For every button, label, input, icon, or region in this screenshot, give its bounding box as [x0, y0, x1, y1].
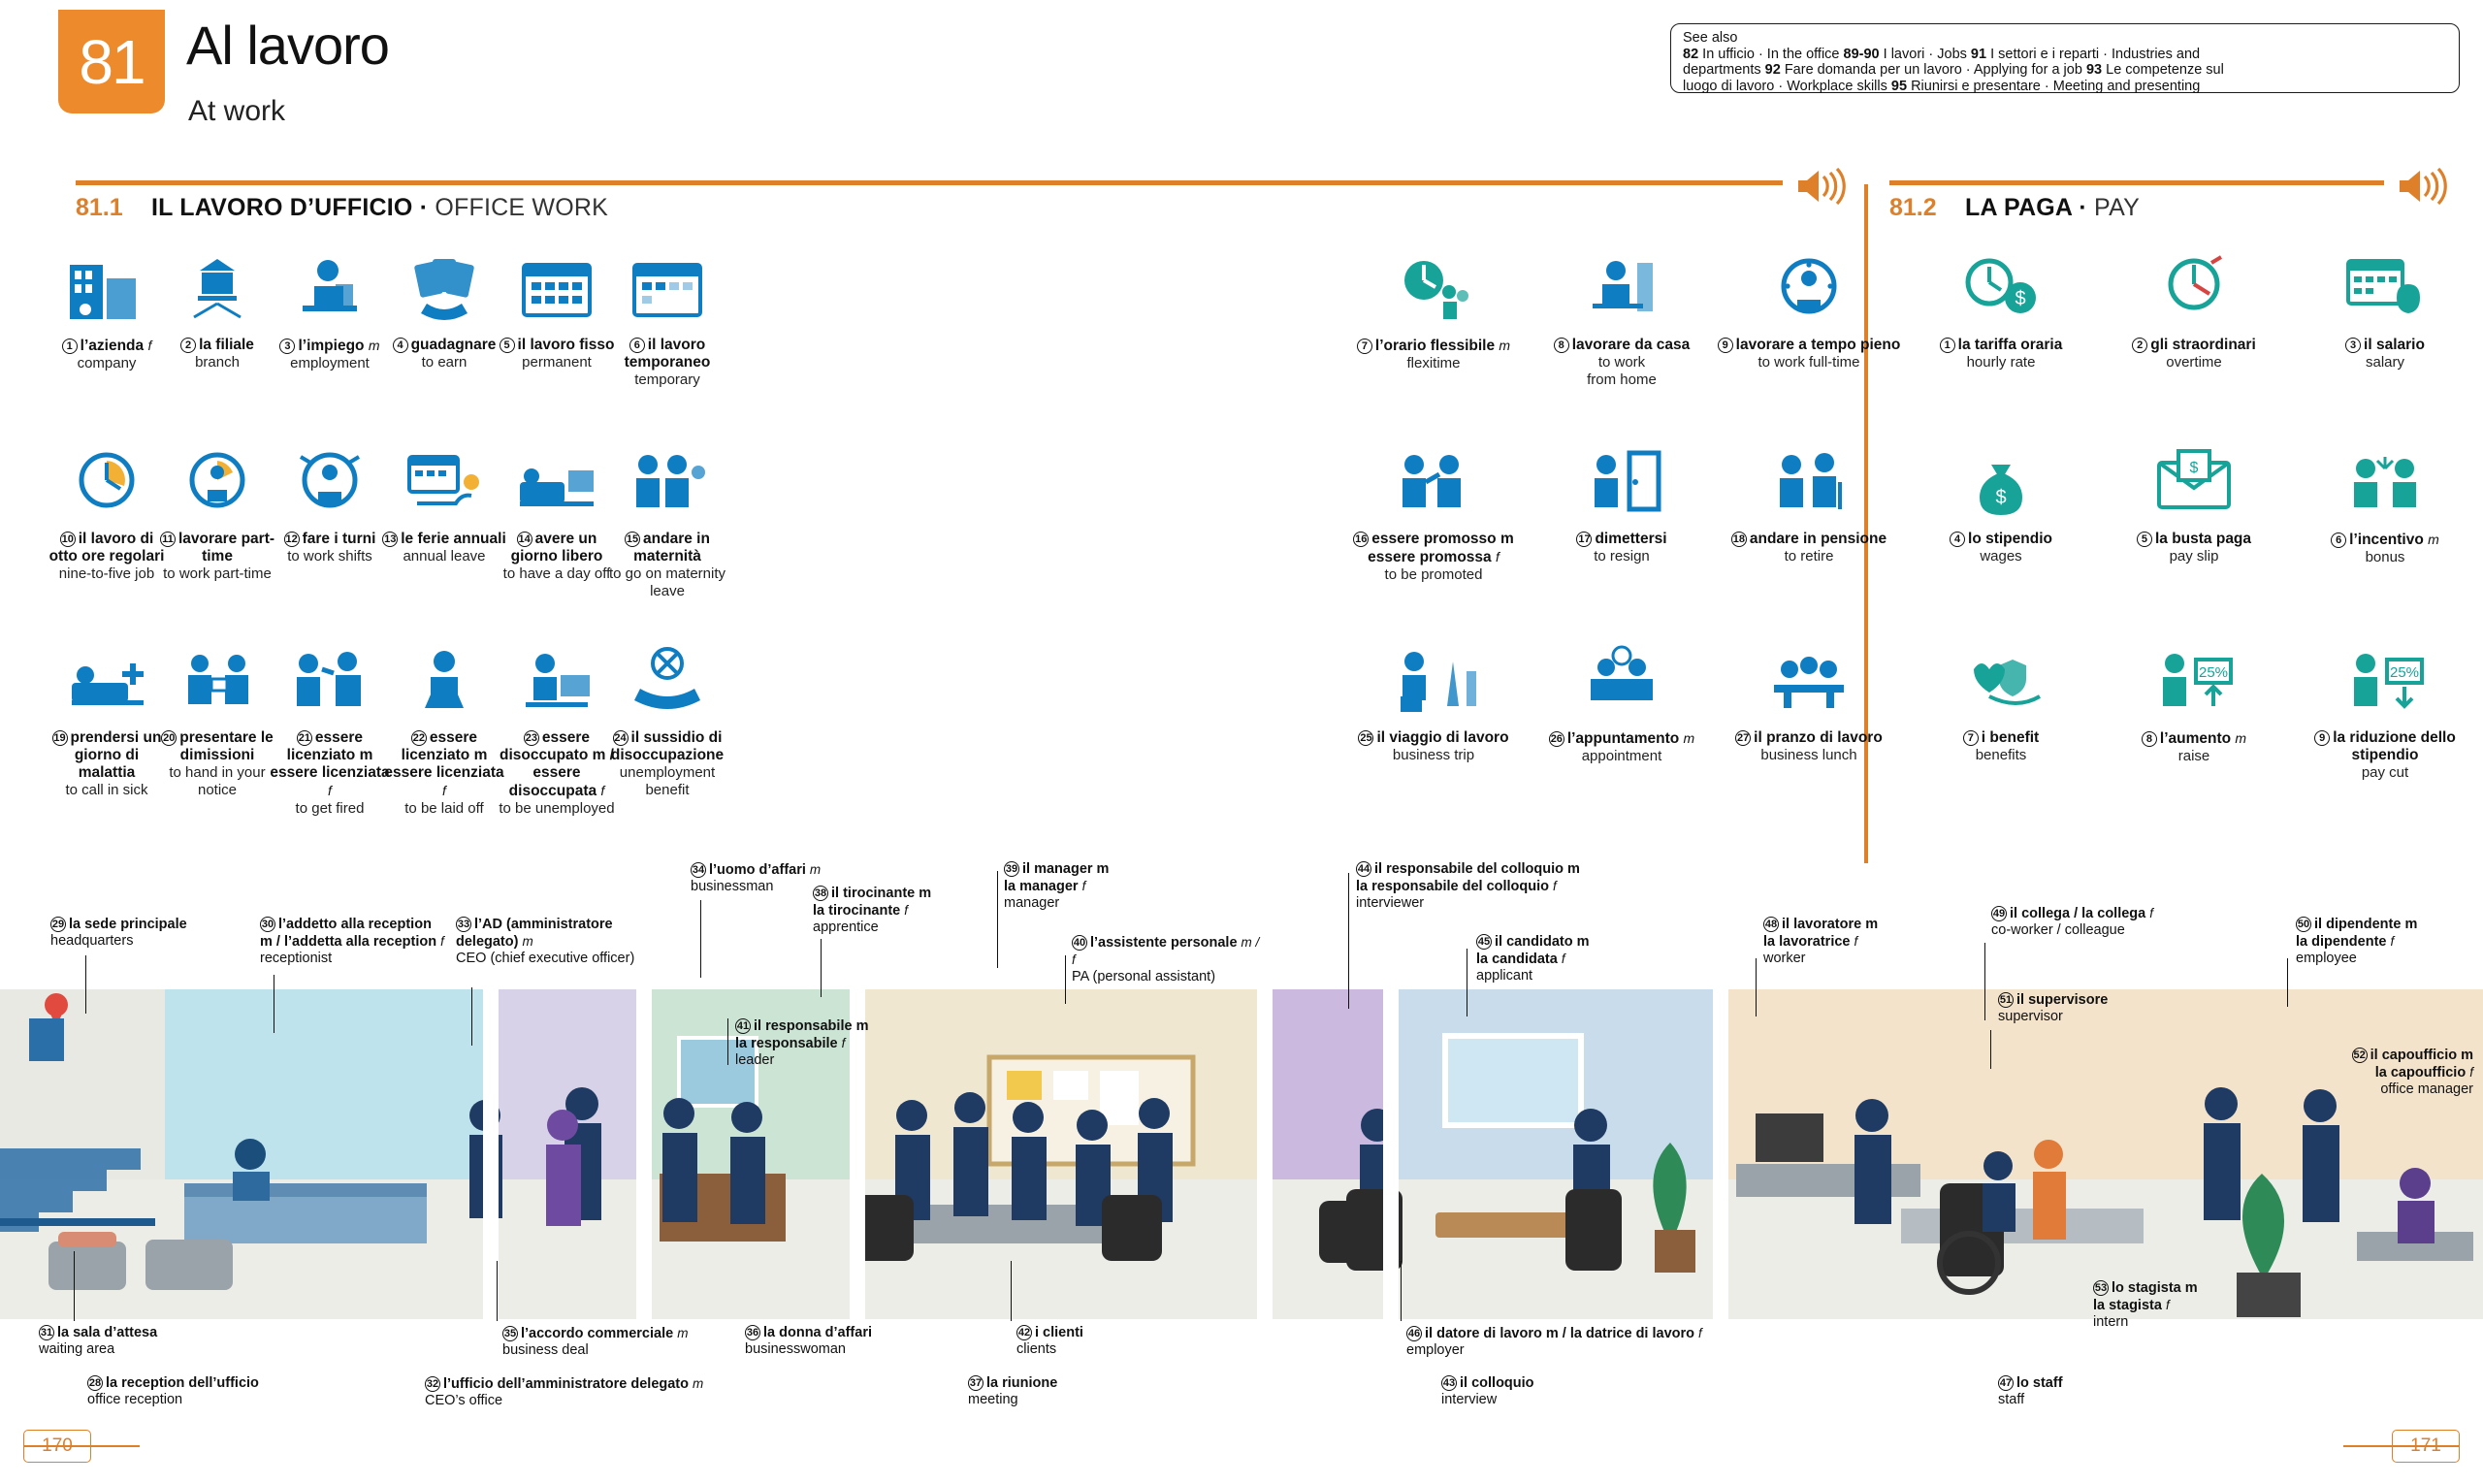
vocab-item-5[interactable]: $5la busta pagapay slip	[2102, 441, 2286, 565]
vocab-icon-wrap	[382, 247, 506, 331]
vocab-translation: temporary	[605, 371, 729, 389]
vocab-term: 10il lavoro di otto ore regolari	[45, 531, 169, 565]
see-also-text-3: I settori e i reparti · Industries and	[1990, 47, 2200, 62]
section-title-en: OFFICE WORK	[435, 194, 608, 221]
scene-callout-30[interactable]: 30l’addetto alla reception m / l’addetta…	[260, 917, 444, 967]
vocab-icon-wrap: $	[1909, 247, 2093, 331]
scene-artwork	[0, 989, 2483, 1319]
scene-separator-6	[1713, 989, 1728, 1319]
scene-callout-48[interactable]: 48il lavoratore mla lavoratrice fworker	[1763, 917, 1919, 967]
vocab-term: 5la busta paga	[2102, 531, 2286, 548]
callout-number: 36	[745, 1325, 760, 1340]
calendar-permanent-icon	[512, 249, 601, 331]
scene-callout-42[interactable]: 42i clienticlients	[1016, 1325, 1172, 1358]
vocab-item-5[interactable]: 5il lavoro fissopermanent	[495, 247, 619, 371]
callout-term: 42i clienti	[1016, 1325, 1083, 1340]
vocab-icon-wrap	[382, 640, 506, 724]
callout-number: 44	[1356, 861, 1371, 877]
vocab-translation: flexitime	[1341, 355, 1526, 372]
callout-leader-line	[85, 955, 86, 1014]
vocab-icon-wrap	[45, 441, 169, 525]
see-also-line-1: 82 In ufficio · In the office 89-90 I la…	[1683, 47, 2447, 63]
vocab-item-1[interactable]: $1la tariffa orariahourly rate	[1909, 247, 2093, 371]
vocab-item-16[interactable]: 16essere promosso messere promossa fto b…	[1341, 441, 1526, 584]
vocab-item-8[interactable]: 8lavorare da casato workfrom home	[1530, 247, 1714, 389]
scene-callout-46[interactable]: 46il datore di lavoro m / la datrice di …	[1406, 1325, 1794, 1359]
vocab-term: 18andare in pensione	[1717, 531, 1901, 548]
callout-term: 53lo stagista mla stagista f	[2093, 1280, 2198, 1313]
vocab-item-20[interactable]: 20presentare le dimissionito hand in you…	[155, 640, 279, 799]
callout-term: 30l’addetto alla reception m / l’addetta…	[260, 917, 444, 950]
vocab-translation: to workfrom home	[1530, 354, 1714, 389]
callout-gender: m	[677, 1326, 688, 1340]
svg-text:$: $	[1995, 487, 2006, 508]
vocab-term: 14avere un giorno libero	[495, 531, 619, 565]
vocab-item-17[interactable]: 17dimettersito resign	[1530, 441, 1714, 565]
vocab-item-12[interactable]: 12fare i turnito work shifts	[268, 441, 392, 565]
callout-gender: f	[1854, 934, 1858, 949]
callout-leader-line	[1065, 955, 1066, 1004]
callout-translation: interview	[1441, 1392, 1616, 1408]
vocab-translation: salary	[2293, 354, 2477, 371]
vocab-icon-wrap	[268, 441, 392, 525]
vocab-translation: to work full-time	[1717, 354, 1901, 371]
callout-translation: employer	[1406, 1342, 1794, 1359]
callout-term: 40l’assistente personale m / f	[1072, 935, 1259, 968]
bank-branch-icon	[173, 249, 262, 331]
chapter-number: 81	[79, 26, 144, 98]
scene-separator-4	[1257, 989, 1273, 1319]
salary-calendar-icon	[2340, 249, 2430, 331]
gender-marker: m	[1499, 338, 1510, 353]
see-also-ref-91: 91	[1971, 47, 1986, 62]
scene-callout-41[interactable]: 41il responsabile mla responsabile flead…	[735, 1018, 910, 1069]
scene-callout-37[interactable]: 37la riunionemeeting	[968, 1375, 1143, 1408]
callout-gender: f	[1553, 879, 1557, 893]
vocab-translation: business lunch	[1717, 747, 1901, 764]
vocab-item-21[interactable]: 21essere licenziato messere licenziata f…	[268, 640, 392, 818]
overtime-clock-icon	[2149, 249, 2239, 331]
vocab-icon-wrap	[2293, 441, 2477, 525]
callout-leader-line	[1467, 949, 1467, 1016]
see-also-line-3: luogo di lavoro · Workplace skills 95 Ri…	[1683, 79, 2447, 95]
callout-translation: office reception	[87, 1392, 320, 1408]
resign-door-icon	[1577, 443, 1666, 525]
vocab-item-22[interactable]: 22essere licenziato messere licenziata f…	[382, 640, 506, 818]
item-number: 4	[1950, 532, 1965, 547]
wages-moneybag-icon: $	[1956, 443, 2046, 525]
callout-number: 34	[691, 862, 706, 878]
vocab-icon-wrap	[605, 441, 729, 525]
vocab-translation: to be unemployed	[495, 800, 619, 818]
item-number: 20	[161, 730, 177, 746]
vocab-icon-wrap	[1341, 640, 1526, 724]
callout-translation: PA (personal assistant)	[1072, 969, 1266, 985]
see-also-box: See also 82 In ufficio · In the office 8…	[1670, 23, 2460, 93]
illustrated-office-scene	[0, 989, 2483, 1319]
business-lunch-icon	[1764, 642, 1854, 724]
see-also-text-1: In ufficio · In the office	[1702, 47, 1839, 62]
vocab-icon-wrap	[155, 247, 279, 331]
item-number: 13	[382, 532, 398, 547]
scene-callout-47[interactable]: 47lo staffstaff	[1998, 1375, 2153, 1408]
item-number: 11	[160, 532, 176, 547]
see-also-ref-93: 93	[2086, 62, 2102, 78]
vocab-item-4[interactable]: $4lo stipendiowages	[1909, 441, 2093, 565]
vocab-translation: annual leave	[382, 548, 506, 565]
scene-callout-35[interactable]: 35l’accordo commerciale mbusiness deal	[502, 1325, 745, 1359]
section-rule-2	[1889, 180, 2384, 185]
callout-translation: receptionist	[260, 951, 444, 967]
callout-term: 43il colloquio	[1441, 1375, 1534, 1391]
vocab-translation: bonus	[2293, 549, 2477, 566]
svg-text:25%: 25%	[2199, 664, 2228, 681]
vocab-icon-wrap	[1530, 640, 1714, 724]
vocab-term: 6il lavoro temporaneo	[605, 337, 729, 371]
callout-leader-line	[471, 987, 472, 1046]
item-number: 1	[1940, 338, 1955, 353]
scene-callout-49[interactable]: 49il collega / la collega fco-worker / c…	[1991, 905, 2234, 939]
vocab-translation: pay cut	[2293, 764, 2477, 782]
vocab-icon-wrap: 25%	[2293, 640, 2477, 724]
vocab-icon-wrap	[495, 441, 619, 525]
callout-translation: CEO’s office	[425, 1393, 774, 1409]
item-number: 5	[500, 338, 515, 353]
vocab-icon-wrap	[45, 640, 169, 724]
scene-callout-33[interactable]: 33l’AD (amministratore delegato) mCEO (c…	[456, 917, 640, 967]
scene-callout-52[interactable]: 52il capoufficio mla capoufficio foffice…	[2328, 1048, 2473, 1098]
vocab-item-9[interactable]: 9lavorare a tempo pienoto work full-time	[1717, 247, 1901, 371]
callout-number: 33	[456, 917, 471, 932]
callout-number: 30	[260, 917, 275, 932]
callout-leader-line	[1011, 1261, 1012, 1321]
callout-term: 33l’AD (amministratore delegato) m	[456, 917, 613, 950]
callout-number: 51	[1998, 992, 2014, 1008]
vocab-item-15[interactable]: 15andare in maternitàto go on maternity …	[605, 441, 729, 600]
callout-translation: clients	[1016, 1341, 1172, 1358]
vocab-term: 13le ferie annuali	[382, 531, 506, 548]
vocab-translation: to go on maternity leave	[605, 565, 729, 600]
callout-term: 52il capoufficio mla capoufficio f	[2352, 1048, 2473, 1081]
vocab-icon-wrap	[2293, 247, 2477, 331]
vocab-term: 9la riduzione dello stipendio	[2293, 729, 2477, 764]
callout-term: 34l’uomo d’affari m	[691, 862, 821, 878]
callout-number: 32	[425, 1376, 440, 1392]
callout-term: 41il responsabile mla responsabile f	[735, 1018, 868, 1051]
vocab-item-9[interactable]: 25%9la riduzione dello stipendiopay cut	[2293, 640, 2477, 782]
vocab-translation: to work shifts	[268, 548, 392, 565]
callout-translation: leader	[735, 1052, 910, 1069]
vocab-item-19[interactable]: 19prendersi un giorno di malattiato call…	[45, 640, 169, 799]
item-number: 17	[1576, 532, 1592, 547]
scene-callout-38[interactable]: 38il tirocinante mla tirocinante fappren…	[813, 886, 987, 936]
callout-term: 32l’ufficio dell’amministratore delegato…	[425, 1376, 703, 1392]
callout-number: 45	[1476, 934, 1492, 950]
callout-number: 46	[1406, 1326, 1422, 1341]
vocab-translation: to get fired	[268, 800, 392, 818]
vocab-icon-wrap	[268, 247, 392, 331]
callout-leader-line	[700, 900, 701, 978]
callout-term: 29la sede principale	[50, 917, 187, 932]
scene-callout-39[interactable]: 39il manager mla manager fmanager	[1004, 861, 1169, 912]
see-also-text-2: I lavori · Jobs	[1884, 47, 1967, 62]
vocab-icon-wrap	[495, 247, 619, 331]
callout-number: 39	[1004, 861, 1019, 877]
callout-number: 37	[968, 1375, 984, 1391]
item-number: 7	[1963, 730, 1979, 746]
item-number: 24	[613, 730, 629, 746]
vocab-item-26[interactable]: 26l’appuntamento mappointment	[1530, 640, 1714, 765]
item-number: 14	[517, 532, 532, 547]
section-title-it-2: LA PAGA	[1965, 194, 2072, 221]
vocab-icon-wrap	[382, 441, 506, 525]
callout-gender: m	[810, 862, 821, 877]
section-number-81-2: 81.2	[1889, 194, 1937, 222]
vocab-translation: to be promoted	[1341, 566, 1526, 584]
callout-translation: staff	[1998, 1392, 2153, 1408]
vocab-item-14[interactable]: 14avere un giorno liberoto have a day of…	[495, 441, 619, 583]
vocab-icon-wrap	[155, 441, 279, 525]
scene-callout-40[interactable]: 40l’assistente personale m / fPA (person…	[1072, 934, 1266, 985]
callout-translation: meeting	[968, 1392, 1143, 1408]
scene-callout-50[interactable]: 50il dipendente mla dipendente femployee	[2296, 917, 2461, 967]
vocab-translation: to hand in your notice	[155, 764, 279, 799]
see-also-ref-95: 95	[1891, 79, 1907, 94]
hand-money-icon	[400, 249, 489, 331]
vocab-item-3[interactable]: 3l’impiego memployment	[268, 247, 392, 372]
get-fired-icon	[285, 642, 374, 724]
vocab-item-7[interactable]: 7l’orario flessibile mflexitime	[1341, 247, 1526, 372]
callout-number: 48	[1763, 917, 1779, 932]
section-sep-2: ·	[2079, 194, 2087, 221]
callout-term: 31la sala d’attesa	[39, 1325, 157, 1340]
callout-term: 45il candidato mla candidata f	[1476, 934, 1590, 967]
callout-gender: f	[904, 903, 908, 918]
vocab-item-6[interactable]: 6l’incentivo mbonus	[2293, 441, 2477, 566]
vocab-translation: to earn	[382, 354, 506, 371]
callout-term: 51il supervisore	[1998, 992, 2108, 1008]
callout-number: 40	[1072, 935, 1087, 951]
vocab-term: 2gli straordinari	[2102, 337, 2286, 354]
vocab-item-6[interactable]: 6il lavoro temporaneotemporary	[605, 247, 729, 389]
scene-callout-29[interactable]: 29la sede principaleheadquarters	[50, 917, 215, 950]
home-working-icon	[1577, 249, 1666, 331]
vocab-term: 16essere promosso messere promossa f	[1341, 531, 1526, 566]
vocab-term: 4guadagnare	[382, 337, 506, 354]
vocab-term: 2la filiale	[155, 337, 279, 354]
callout-translation: headquarters	[50, 933, 215, 950]
callout-leader-line	[1990, 1030, 1991, 1069]
vocab-item-24[interactable]: 24il sussidio di disoccupazioneunemploym…	[605, 640, 729, 799]
vocab-item-7[interactable]: 7i benefitbenefits	[1909, 640, 2093, 764]
vocab-term: 25il viaggio di lavoro	[1341, 729, 1526, 747]
appointment-icon	[1577, 642, 1666, 724]
worker-desk-icon	[285, 249, 374, 331]
vocab-term: 1l’azienda f	[45, 337, 169, 355]
vocab-icon-wrap	[1341, 441, 1526, 525]
callout-number: 42	[1016, 1325, 1032, 1340]
callout-gender: f	[842, 1036, 846, 1050]
callout-leader-line	[2287, 958, 2288, 1007]
vocab-item-2[interactable]: 2la filialebranch	[155, 247, 279, 371]
vocab-term: 17dimettersi	[1530, 531, 1714, 548]
callout-gender: f	[1562, 952, 1565, 966]
vocab-icon-wrap	[268, 640, 392, 724]
vocab-item-8[interactable]: 25%8l’aumento mraise	[2102, 640, 2286, 765]
item-number: 8	[2142, 731, 2157, 747]
callout-gender: f	[2469, 1065, 2473, 1080]
item-number: 2	[2132, 338, 2147, 353]
audio-speaker-icon[interactable]	[1794, 167, 1853, 206]
vocab-term: 1la tariffa oraria	[1909, 337, 2093, 354]
scene-callout-45[interactable]: 45il candidato mla candidata fapplicant	[1476, 934, 1641, 984]
vocab-icon-wrap	[1341, 247, 1526, 331]
vocab-term: 27il pranzo di lavoro	[1717, 729, 1901, 747]
item-number: 9	[2314, 730, 2330, 746]
callout-number: 50	[2296, 917, 2311, 932]
vocab-item-1[interactable]: 1l’azienda fcompany	[45, 247, 169, 372]
item-number: 12	[284, 532, 300, 547]
vocab-item-4[interactable]: 4guadagnareto earn	[382, 247, 506, 371]
vocab-icon-wrap	[1530, 247, 1714, 331]
page-number-right: 171	[2392, 1430, 2460, 1463]
item-number: 4	[393, 338, 408, 353]
vocab-translation: to be laid off	[382, 800, 506, 818]
vocab-icon-wrap	[45, 247, 169, 331]
vocab-item-27[interactable]: 27il pranzo di lavorobusiness lunch	[1717, 640, 1901, 764]
hourly-rate-icon: $	[1956, 249, 2046, 331]
vocab-translation: employment	[268, 355, 392, 372]
svg-text:25%: 25%	[2390, 664, 2419, 681]
scene-callout-36[interactable]: 36la donna d’affaribusinesswoman	[745, 1325, 939, 1358]
bonus-icon	[2340, 443, 2430, 525]
vocab-item-25[interactable]: 25il viaggio di lavorobusiness trip	[1341, 640, 1526, 764]
scene-callout-43[interactable]: 43il colloquiointerview	[1441, 1375, 1616, 1408]
section-number-81-1: 81.1	[76, 194, 123, 222]
vocab-translation: to have a day off	[495, 565, 619, 583]
unemployment-benefit-icon	[623, 642, 712, 724]
vocab-term: 26l’appuntamento m	[1530, 729, 1714, 748]
callout-gender: f	[2149, 906, 2153, 920]
callout-term: 39il manager mla manager f	[1004, 861, 1109, 894]
vocab-translation: to resign	[1530, 548, 1714, 565]
vocab-term: 24il sussidio di disoccupazione	[605, 729, 729, 764]
page-title-english: At work	[188, 95, 285, 128]
vocab-translation: hourly rate	[1909, 354, 2093, 371]
vocab-term: 23essere disoccupato m /essere disoccupa…	[495, 729, 619, 800]
callout-term: 50il dipendente mla dipendente f	[2296, 917, 2417, 950]
gender-marker: m	[369, 338, 380, 353]
vocab-item-10[interactable]: 10il lavoro di otto ore regolarinine-to-…	[45, 441, 169, 583]
gender-marker: m	[2428, 532, 2439, 547]
callout-term: 35l’accordo commerciale m	[502, 1326, 688, 1341]
callout-number: 47	[1998, 1375, 2014, 1391]
scene-callout-31[interactable]: 31la sala d’attesawaiting area	[39, 1325, 233, 1358]
see-also-text-8: Riunirsi e presentare · Meeting and pres…	[1911, 79, 2200, 94]
scene-callout-51[interactable]: 51il supervisoresupervisor	[1998, 992, 2153, 1025]
callout-gender: f	[440, 934, 444, 949]
callout-gender: f	[2391, 934, 2395, 949]
gender-marker: f	[442, 783, 446, 798]
vocab-icon-wrap	[605, 247, 729, 331]
vocab-item-23[interactable]: 23essere disoccupato m /essere disoccupa…	[495, 640, 619, 818]
vocab-item-18[interactable]: 18andare in pensioneto retire	[1717, 441, 1901, 565]
item-number: 15	[625, 532, 640, 547]
callout-translation: intern	[2093, 1314, 2239, 1331]
item-number: 5	[2137, 532, 2152, 547]
benefits-icon	[1956, 642, 2046, 724]
callout-translation: CEO (chief executive officer)	[456, 951, 640, 967]
scene-callout-44[interactable]: 44il responsabile del colloquio mla resp…	[1356, 861, 1637, 912]
vocab-translation: benefits	[1909, 747, 2093, 764]
vocab-icon-wrap	[605, 640, 729, 724]
fulltime-clock-icon	[1764, 249, 1854, 331]
vocab-icon-wrap	[1717, 441, 1901, 525]
vocab-term: 15andare in maternità	[605, 531, 729, 565]
callout-translation: business deal	[502, 1342, 745, 1359]
section-title-en-2: PAY	[2094, 194, 2140, 221]
callout-term: 46il datore di lavoro m / la datrice di …	[1406, 1326, 1702, 1341]
vocab-translation: to retire	[1717, 548, 1901, 565]
callout-gender: m	[693, 1376, 703, 1391]
item-number: 3	[279, 339, 295, 354]
vocab-term: 7l’orario flessibile m	[1341, 337, 1526, 355]
vocab-icon-wrap	[2102, 247, 2286, 331]
vocab-translation: to call in sick	[45, 782, 169, 799]
chapter-number-tab: 81	[58, 10, 165, 113]
annual-leave-icon	[400, 443, 489, 525]
raise-up-arrow-icon: 25%	[2149, 642, 2239, 724]
vocab-term: 22essere licenziato messere licenziata f	[382, 729, 506, 800]
vocab-item-3[interactable]: 3il salariosalary	[2293, 247, 2477, 371]
see-also-text-6: Le competenze sul	[2106, 62, 2224, 78]
callout-translation: co-worker / colleague	[1991, 922, 2234, 939]
vocab-item-11[interactable]: 11lavorare part-timeto work part-time	[155, 441, 279, 583]
scene-callout-53[interactable]: 53lo stagista mla stagista fintern	[2093, 1280, 2239, 1331]
callout-term: 28la reception dell’ufficio	[87, 1375, 259, 1391]
callout-translation: apprentice	[813, 919, 987, 936]
see-also-line-2: departments 92 Fare domanda per un lavor…	[1683, 62, 2447, 79]
callout-number: 35	[502, 1326, 518, 1341]
gender-marker: m	[1684, 730, 1695, 746]
scene-callout-32[interactable]: 32l’ufficio dell’amministratore delegato…	[425, 1375, 774, 1409]
gender-marker: f	[147, 338, 151, 353]
callout-number: 29	[50, 917, 66, 932]
item-number: 1	[62, 339, 78, 354]
item-number: 26	[1549, 731, 1564, 747]
vocab-term: 21essere licenziato messere licenziata f	[268, 729, 392, 800]
callout-translation: businesswoman	[745, 1341, 939, 1358]
maternity-leave-icon	[623, 443, 712, 525]
callout-term: 44il responsabile del colloquio mla resp…	[1356, 861, 1580, 894]
audio-speaker-icon-2[interactable]	[2396, 167, 2454, 206]
callout-term: 47lo staff	[1998, 1375, 2063, 1391]
vocab-icon-wrap	[495, 640, 619, 724]
vocab-item-13[interactable]: 13le ferie annualiannual leave	[382, 441, 506, 565]
gender-marker: f	[1496, 549, 1499, 565]
callout-gender: m / f	[1072, 935, 1259, 967]
payslip-envelope-icon: $	[2149, 443, 2239, 525]
vocab-item-2[interactable]: 2gli straordinariovertime	[2102, 247, 2286, 371]
vocab-icon-wrap	[1717, 247, 1901, 331]
vocab-term: 20presentare le dimissioni	[155, 729, 279, 764]
callout-number: 52	[2352, 1048, 2368, 1063]
scene-callout-28[interactable]: 28la reception dell’ufficiooffice recept…	[87, 1375, 320, 1408]
vocab-translation: pay slip	[2102, 548, 2286, 565]
item-number: 9	[1718, 338, 1733, 353]
gender-marker: f	[328, 783, 332, 798]
item-number: 8	[1554, 338, 1569, 353]
